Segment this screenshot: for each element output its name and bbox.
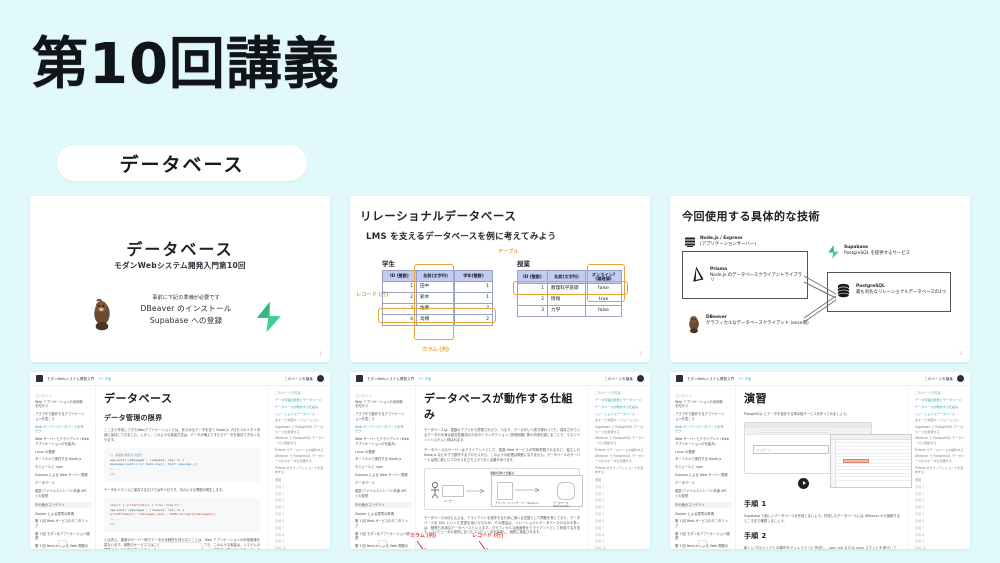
supabase-label: Supabase PostgreSQL を提供するサービス	[844, 245, 954, 256]
cell: 2	[455, 304, 493, 315]
topic-badge: データベース	[57, 145, 307, 181]
toc-item[interactable]: データベースが動作する仕組み	[915, 405, 965, 409]
site-logo-icon	[356, 375, 363, 382]
edit-page-link[interactable]: このページを編集	[924, 376, 953, 381]
annotation-arrow-icon	[478, 541, 492, 549]
sidebar-subitem[interactable]: Linux の基礎	[35, 450, 90, 454]
cell: 1	[455, 282, 493, 293]
site-logo-badge: ベータ版	[738, 376, 751, 381]
doc2-h1: データベースが動作する仕組み	[424, 390, 580, 422]
arrow-right-icon	[515, 487, 543, 493]
sidebar-subitem[interactable]: データベース	[35, 481, 90, 485]
nav-heading: コンテンツ	[355, 393, 410, 398]
slide-row: データベース モダンWebシステム開発入門第10回 事前に下記の準備が必要です	[30, 196, 970, 362]
chevron-right-icon: ›	[409, 400, 410, 409]
sidebar-heading-2-label: その他のコンテンツ	[35, 503, 65, 507]
slide3-page-number: 3	[959, 352, 962, 357]
supabase-name: Supabase	[844, 245, 868, 250]
doc1-p1: ここまで作成してきたWebアプリケーションでは、あらゆるデータを全て Node.…	[104, 428, 260, 443]
node-express-label: Node.js / Express (アプリケーションサーバー)	[700, 236, 810, 247]
class-col-online: オンライン? (論理値)	[586, 271, 622, 284]
sidebar-item-label: Web サーバー・データベースを作ろう	[355, 425, 404, 434]
sidebar-item-label: 第 1 回 Web サービスのモニタリング	[355, 519, 410, 528]
annotation-column: カラム (列)	[422, 346, 449, 353]
slide1-title: データベース	[30, 236, 330, 260]
dbeaver-label: DBeaver グラフィカルなデータベースクライアント (once周)	[706, 315, 816, 326]
toc-step[interactable]: 手順 1	[275, 485, 325, 489]
toc-step[interactable]: 手順 8	[915, 533, 965, 537]
sidebar-collapse-button[interactable]	[698, 540, 707, 546]
app-server-node	[497, 482, 513, 500]
doc-topbar: モダンWebシステム開発入門 ベータ版 このページを編集	[350, 372, 650, 386]
table-row: 3 佐藤 2	[383, 304, 493, 315]
toc-step[interactable]: 手順 10	[595, 546, 645, 549]
toc-heading: このページの内容	[275, 390, 325, 395]
theme-toggle-icon[interactable]	[637, 375, 644, 382]
slide1-note-block: 事前に下記の準備が必要です DBeaver のインストール Supabase へ…	[126, 296, 246, 325]
sidebar-subitem[interactable]: ターミナルで操作する Node.js	[675, 457, 730, 461]
toc-subitem[interactable]: 主キーと外部キー・リレーション	[595, 418, 645, 422]
nav-heading: コンテンツ	[35, 393, 90, 398]
scroll-indicator	[158, 542, 202, 549]
sidebar-item[interactable]: ブラウザで動作するアプリケーションを書こう ›	[35, 412, 90, 421]
slide1-note: 事前に下記の準備が必要です	[126, 296, 246, 302]
video-embed[interactable]: メッセージ 送信	[744, 422, 900, 492]
site-logo-text: モダンWebシステム開発入門	[687, 376, 734, 381]
doc-content: データベースが動作する仕組み データベースは、複数のアプリから参照されたり、つま…	[416, 372, 588, 549]
doc-topbar-right: このページを編集	[604, 375, 644, 382]
doc-row: モダンWebシステム開発入門 ベータ版 このページを編集 コンテンツ Web ア…	[30, 372, 970, 549]
doc3-p2: Supabase で新しいデータベースを作成しましょう。作成したデータベースには…	[744, 514, 900, 524]
sidebar-subitem-label: モジュールと npm	[675, 465, 703, 469]
supabase-logo	[826, 244, 841, 260]
sidebar-item-selected[interactable]: Web サーバー・データベースを作ろう ⌄	[35, 425, 90, 434]
chevron-right-icon: ›	[409, 412, 410, 421]
cell: false	[586, 284, 622, 295]
cell: 3	[518, 306, 548, 317]
cell: 2	[383, 293, 417, 304]
site-logo-icon	[36, 375, 43, 382]
toc-subitem[interactable]: DBeaver で PostgreSQL データベースのスキーマを定義する	[275, 454, 325, 463]
student-table: ID (整数) 名前(文字列) 学年(整数) 1 田中 1 2	[382, 270, 493, 326]
sidebar-subitem-label: Express による Web サーバー開発	[355, 473, 408, 477]
doc3-p3: 新しいプロジェクトの雛形をディレクトリに作成し、npm init または npm…	[744, 546, 900, 549]
annotation-column-label: カラム (列)	[410, 532, 436, 539]
toc-subitem[interactable]: Prisma のクライアントコードを生成する	[915, 466, 965, 475]
doc-content: データベース データ管理の限界 ここまで作成してきたWebアプリケーションでは、…	[96, 372, 268, 549]
postgres-name: PostgreSQL	[856, 284, 885, 289]
sidebar-heading-2: その他のコンテンツ	[33, 502, 92, 508]
toc-subitem[interactable]: 主キーと外部キー・リレーション	[915, 418, 965, 422]
annotation-arrow-icon	[416, 541, 430, 549]
student-table-caption: 学生	[382, 258, 493, 268]
sidebar-item-selected[interactable]: Web サーバー・データベースを作ろう ⌄	[355, 425, 410, 434]
sidebar-subitem[interactable]: Linux の基礎	[355, 450, 410, 454]
toc-step[interactable]: 手順 7	[915, 526, 965, 530]
sidebar-heading-2-label: その他のコンテンツ	[355, 503, 385, 507]
table-row: 1 田中 1	[383, 282, 493, 293]
toc-subitem[interactable]: Prisma でデータベースを操作する	[915, 448, 965, 452]
topic-badge-label: データベース	[119, 150, 244, 177]
sidebar-subitem[interactable]: ターミナルで操作する Node.js	[35, 457, 90, 461]
supabase-logo	[252, 300, 286, 334]
sidebar-subitem[interactable]: データベース	[355, 481, 410, 485]
connection-arrows	[802, 268, 842, 328]
toc-item[interactable]: データベースが動作する仕組み	[595, 405, 645, 409]
toc-step[interactable]: 手順 5	[275, 512, 325, 516]
sidebar-item-label: Docker による環境の再現	[355, 512, 394, 516]
sidebar-subitem[interactable]: 認証・ファイルストレージ・外部 API との連携	[355, 489, 410, 498]
table-row: 1 数理科学基礎 false	[518, 284, 622, 295]
toc-subitem[interactable]: Prisma のクライアントコードを生成する	[275, 466, 325, 475]
theme-toggle-icon[interactable]	[957, 375, 964, 382]
slide-thumbnail-2[interactable]: リレーショナルデータベース LMS を支えるデータベースを例に考えてみよう テー…	[350, 196, 650, 362]
cell: 情報	[548, 295, 586, 306]
doc-sidebar[interactable]: コンテンツ Web アプリケーションの全体像を知ろう › ブラウザで動作するアプ…	[30, 372, 96, 549]
sidebar-subitem[interactable]: 認証・ファイルストレージ・外部 API との連携	[35, 489, 90, 498]
cell: 1	[383, 282, 417, 293]
code-line: });	[110, 522, 254, 527]
class-col-id: ID (整数)	[518, 271, 548, 284]
toc-subitem[interactable]: 主キーと外部キー・リレーション	[275, 418, 325, 422]
sidebar-item-label: Web アプリケーションの全体像を知ろう	[35, 400, 86, 409]
sidebar-item-label: Web アプリケーションの全体像を知ろう	[355, 400, 406, 409]
sidebar-item-other[interactable]: Docker による環境の再現	[35, 512, 90, 516]
toc-subitem[interactable]: Supabase で PostgreSQL データベースを用意する	[595, 425, 645, 434]
chevron-right-icon: ›	[89, 400, 90, 409]
toc-step[interactable]: 手順 1	[915, 485, 965, 489]
cell: 2	[455, 315, 493, 326]
sidebar-item-label: 第 1 回 Web サービスのモニタリング	[675, 519, 730, 528]
toc-step[interactable]: 手順 4	[595, 505, 645, 509]
sidebar-subitem[interactable]: Linux の基礎	[675, 450, 730, 454]
doc-topbar-right: このページを編集	[924, 375, 964, 382]
doc-sidebar[interactable]: コンテンツ Web アプリケーションの全体像を知ろう › ブラウザで動作するアプ…	[350, 372, 416, 549]
cell: 鈴木	[417, 293, 455, 304]
toc-subitem[interactable]: DBeaver で PostgreSQL データベースに接続する	[915, 436, 965, 445]
class-table: ID (整数) 名前(文字列) オンライン? (論理値) 1 数理科学基礎 fa…	[517, 270, 622, 317]
sidebar-heading-2: その他のコンテンツ	[353, 502, 412, 508]
cell: 2	[518, 295, 548, 306]
sidebar-heading-2: その他のコンテンツ	[673, 502, 732, 508]
cell: false	[586, 306, 622, 317]
sidebar-item-label: ブラウザで動作するアプリケーションを書こう	[35, 412, 86, 421]
toc-step[interactable]: 手順 9	[595, 539, 645, 543]
user-icon	[429, 481, 441, 499]
cell: 力学	[548, 306, 586, 317]
slide3-title: 今回使用する具体的な技術	[682, 208, 958, 224]
slide2-subtitle: LMS を支えるデータベースを例に考えてみよう	[366, 230, 640, 242]
beaver-icon	[88, 298, 116, 332]
toc-step[interactable]: 手順 4	[915, 505, 965, 509]
doc3-h2-1: 手順 1	[744, 499, 900, 509]
toc-step[interactable]: 手順 3	[595, 498, 645, 502]
slide1-item-2: Supabase への登録	[126, 317, 246, 326]
cell: 4	[383, 315, 417, 326]
cell: 田中	[417, 282, 455, 293]
server-icon	[684, 236, 696, 248]
sidebar-item[interactable]: Web アプリケーションの全体像を知ろう ›	[35, 400, 90, 409]
chevron-down-icon: ⌄	[407, 425, 410, 434]
annotation-table: テーブル	[498, 248, 518, 255]
prisma-label: Prisma Node.js のデータベースクライアントライブラリ	[710, 267, 802, 284]
toc-item[interactable]: リレーショナルデータベース	[275, 412, 325, 416]
doc1-code-block-1: // 投稿を保存する配列 app.post('/messages', (requ…	[104, 448, 260, 482]
toc-heading-2: 演習	[915, 477, 965, 482]
sidebar-item[interactable]: Web アプリケーションの全体像を知ろう ›	[675, 400, 730, 409]
doc1-h2: データ管理の限界	[104, 413, 260, 423]
doc-toc: このページの内容 データ管理の限界とデータベース データベースが動作する仕組み …	[908, 372, 970, 549]
chevron-right-icon: ›	[729, 400, 730, 409]
sidebar-item-label: 第 1 回 Web サービスのモニタリング	[35, 519, 90, 528]
toc-subitem[interactable]: DBeaver で PostgreSQL データベースのスキーマを定義する	[595, 454, 645, 463]
cell: 高橋	[417, 315, 455, 326]
sidebar-subitem[interactable]: モジュールと npm	[35, 465, 90, 469]
doc-toc: このページの内容 データ管理の限界とデータベース データベースが動作する仕組み …	[588, 372, 650, 549]
sidebar-item-label: Docker による環境の再現	[675, 512, 714, 516]
doc1-code-block-2: import { writeFileSync } from 'node:fs';…	[104, 498, 260, 532]
supabase-desc: PostgreSQL を提供するサービス	[844, 251, 910, 256]
thumbnail-grid: データベース モダンWebシステム開発入門第10回 事前に下記の準備が必要です	[30, 196, 970, 549]
site-logo-text: モダンWebシステム開発入門	[47, 376, 94, 381]
student-col-year: 学年(整数)	[455, 271, 493, 282]
toc-step[interactable]: 手順 7	[595, 526, 645, 530]
slide-thumbnail-1[interactable]: データベース モダンWebシステム開発入門第10回 事前に下記の準備が必要です	[30, 196, 330, 362]
nav-heading: コンテンツ	[675, 393, 730, 398]
doc1-p2: データをメモリ上に保存するだけでは不十分です。次のような問題が発生します。	[104, 488, 260, 493]
class-table-caption: 授業	[517, 258, 622, 268]
sidebar-subitem-label: Web サーバーとクライアント (Webアプリケーションの仕組み)	[675, 437, 730, 446]
toc-subitem[interactable]: Supabase で PostgreSQL データベースを用意する	[275, 425, 325, 434]
sidebar-subitem-label: 認証・ファイルストレージ・外部 API との連携	[35, 489, 90, 498]
sidebar-item-label: Web サーバー・データベースを作ろう	[675, 425, 724, 434]
toc-subitem[interactable]: Supabase で PostgreSQL データベースを用意する	[915, 425, 965, 434]
cell: 佐藤	[417, 304, 455, 315]
toc-step[interactable]: 手順 4	[275, 505, 325, 509]
postgres-desc: 最も有名なリレーショナルデータベースの1つ	[856, 290, 946, 295]
chevron-down-icon: ⌄	[727, 425, 730, 434]
browser-url-field	[759, 430, 829, 434]
sidebar-item-selected[interactable]: Web サーバー・データベースを作ろう ⌄	[675, 425, 730, 434]
sidebar-item-other[interactable]: 第 1 回 Web サービスのモニタリング	[35, 519, 90, 528]
cell: true	[586, 295, 622, 306]
sidebar-subitem-label: ターミナルで操作する Node.js	[355, 457, 401, 461]
doc-sidebar[interactable]: コンテンツ Web アプリケーションの全体像を知ろう › ブラウザで動作するアプ…	[670, 372, 736, 549]
toc-step[interactable]: 手順 2	[275, 492, 325, 496]
sidebar-item[interactable]: Web アプリケーションの全体像を知ろう ›	[355, 400, 410, 409]
toc-step[interactable]: 手順 1	[595, 485, 645, 489]
sidebar-subitem-label: Linux の基礎	[35, 450, 55, 454]
message-input: メッセージ	[753, 445, 829, 454]
toc-item[interactable]: リレーショナルデータベース	[915, 412, 965, 416]
doc2-p1: データベースは、複数のアプリから参照されたり、つまり、データがいつ書き換わっても…	[424, 428, 580, 443]
postgres-label: PostgreSQL 最も有名なリレーショナルデータベースの1つ	[856, 284, 948, 295]
sidebar-subitem[interactable]: 認証・ファイルストレージ・外部 API との連携	[675, 489, 730, 498]
chevron-right-icon: ›	[729, 412, 730, 421]
doc-topbar-right: このページを編集	[284, 375, 324, 382]
student-col-name: 名前(文字列)	[417, 271, 455, 282]
dbeaver-desc: グラフィカルなデータベースクライアント (once周)	[706, 321, 809, 326]
slide2-title: リレーショナルデータベース	[360, 208, 640, 224]
toc-step[interactable]: 手順 8	[275, 533, 325, 537]
slide1-item-1: DBeaver のインストール	[126, 305, 246, 314]
toc-step[interactable]: 手順 5	[915, 512, 965, 516]
sidebar-subitem-label: Linux の基礎	[675, 450, 695, 454]
sidebar-subitem[interactable]: Web サーバーとクライアント (Webアプリケーションの仕組み)	[35, 437, 90, 446]
slide1-subtitle: モダンWebシステム開発入門第10回	[30, 260, 330, 271]
sidebar-subitem[interactable]: データベース	[675, 481, 730, 485]
cell: 1	[455, 293, 493, 304]
sidebar-subitem-label: データベース	[355, 481, 375, 485]
toc-step[interactable]: 手順 9	[915, 539, 965, 543]
class-col-name: 名前(文字列)	[548, 271, 586, 284]
toc-step[interactable]: 手順 2	[915, 492, 965, 496]
doc1-h1: データベース	[104, 390, 260, 406]
beaver-icon	[686, 314, 702, 334]
toc-heading: このページの内容	[595, 390, 645, 395]
toc-item[interactable]: データ管理の限界とデータベース	[595, 398, 645, 402]
sidebar-subitem-label: モジュールと npm	[355, 465, 383, 469]
slide2-page-number: 2	[639, 352, 642, 357]
toc-item[interactable]: リレーショナルデータベース	[595, 412, 645, 416]
diagram-label-app: アプリケーションサーバー (Node.js)	[495, 501, 539, 505]
database-node	[557, 482, 575, 500]
db-client-sidebar	[831, 440, 836, 487]
toc-step[interactable]: 手順 2	[595, 492, 645, 496]
sidebar-item-label: ブラウザで動作するアプリケーションを書こう	[675, 412, 726, 421]
toc-item[interactable]: データ管理の限界とデータベース	[915, 398, 965, 402]
site-logo-icon	[676, 375, 683, 382]
toc-subitem[interactable]: Prisma でデータベースを操作する	[595, 448, 645, 452]
table-row: 2 情報 true	[518, 295, 622, 306]
sidebar-subitem-label: モジュールと npm	[35, 465, 63, 469]
sidebar-item-other[interactable]: Docker による環境の再現	[355, 512, 410, 516]
student-table-wrap: 学生 ID (整数) 名前(文字列) 学年(整数) 1 田中 1	[382, 258, 493, 326]
toc-step[interactable]: 手順 7	[275, 526, 325, 530]
sidebar-subitem[interactable]: Express による Web サーバー開発	[355, 473, 410, 477]
sidebar-item-label: Docker による環境の再現	[35, 512, 74, 516]
code-line: });	[110, 472, 254, 477]
sidebar-item-label: ブラウザで動作するアプリケーションを書こう	[355, 412, 406, 421]
sidebar-subitem-label: 認証・ファイルストレージ・外部 API との連携	[675, 489, 730, 498]
student-col-id: ID (整数)	[383, 271, 417, 282]
annotation-record-label: レコード (行)	[472, 532, 503, 539]
db-client-screenshot	[830, 434, 912, 488]
sidebar-item-other[interactable]: Docker による環境の再現	[675, 512, 730, 516]
doc3-p1: PostgreSQL にデータを保存する掲示板サービスを作ってみましょう。	[744, 412, 900, 417]
sidebar-subitem[interactable]: Web サーバーとクライアント (Webアプリケーションの仕組み)	[355, 437, 410, 446]
toc-item[interactable]: データ管理の限界とデータベース	[275, 398, 325, 402]
dbeaver-name: DBeaver	[706, 315, 727, 320]
toc-step[interactable]: 手順 9	[275, 539, 325, 543]
table-row: 2 鈴木 1	[383, 293, 493, 304]
sidebar-subitem[interactable]: ターミナルで操作する Node.js	[355, 457, 410, 461]
highlighted-row	[843, 459, 869, 464]
doc-topbar: モダンWebシステム開発入門 ベータ版 このページを編集	[670, 372, 970, 386]
toc-subitem[interactable]: DBeaver で PostgreSQL データベースに接続する	[275, 436, 325, 445]
arrow-right-icon	[466, 488, 488, 494]
table-header-row: ID (整数) 名前(文字列) オンライン? (論理値)	[518, 271, 622, 284]
doc-thumbnail-1[interactable]: モダンWebシステム開発入門 ベータ版 このページを編集 コンテンツ Web ア…	[30, 372, 330, 549]
sidebar-subitem[interactable]: Web サーバーとクライアント (Webアプリケーションの仕組み)	[675, 437, 730, 446]
sidebar-subitem[interactable]: Express による Web サーバー開発	[675, 473, 730, 477]
architecture-diagram: 接続の流れと仕組み ユーザー ア	[424, 468, 580, 510]
toc-subitem[interactable]: DBeaver で PostgreSQL データベースに接続する	[595, 436, 645, 445]
sidebar-subitem-label: データベース	[35, 481, 55, 485]
site-logo-badge: ベータ版	[98, 376, 111, 381]
presentation-overview-page: 第10回講義 データベース データベース モダンWebシステム開発入門第10回	[0, 0, 1000, 563]
doc-thumbnail-2[interactable]: モダンWebシステム開発入門 ベータ版 このページを編集 コンテンツ Web ア…	[350, 372, 650, 549]
slide-thumbnail-3[interactable]: 今回使用する具体的な技術 Node.js / Express (アプリケーション…	[670, 196, 970, 362]
chevron-right-icon: ›	[89, 412, 90, 421]
sidebar-subitem-label: Express による Web サーバー開発	[675, 473, 728, 477]
sidebar-subitem[interactable]: モジュールと npm	[355, 465, 410, 469]
diagram-label-db: データベース (PostgreSQL)	[553, 501, 579, 508]
table-row: 3 力学 false	[518, 306, 622, 317]
page-title: 第10回講義	[32, 36, 340, 95]
toc-item[interactable]: データベースが動作する仕組み	[275, 405, 325, 409]
edit-page-link[interactable]: このページを編集	[284, 376, 313, 381]
prisma-name: Prisma	[710, 267, 727, 272]
sidebar-subitem[interactable]: モジュールと npm	[675, 465, 730, 469]
doc-topbar: モダンWebシステム開発入門 ベータ版 このページを編集	[30, 372, 330, 386]
toc-step[interactable]: 手順 8	[595, 533, 645, 537]
theme-toggle-icon[interactable]	[317, 375, 324, 382]
toc-heading-2: 演習	[275, 477, 325, 482]
sidebar-subitem-label: Web サーバーとクライアント (Webアプリケーションの仕組み)	[35, 437, 90, 446]
toc-step[interactable]: 手順 6	[915, 519, 965, 523]
site-logo-badge: ベータ版	[418, 376, 431, 381]
sidebar-collapse-button[interactable]	[378, 540, 387, 546]
sidebar-subitem-label: Linux の基礎	[355, 450, 375, 454]
diagram-label-user: ユーザー	[444, 499, 454, 503]
sidebar-collapse-button[interactable]	[58, 540, 67, 546]
toc-step[interactable]: 手順 5	[595, 512, 645, 516]
sidebar-item-other[interactable]: 第 1 回 Web サービスのモニタリング	[355, 519, 410, 528]
toc-step[interactable]: 手順 6	[595, 519, 645, 523]
toc-step[interactable]: 手順 10	[275, 546, 325, 549]
toc-step[interactable]: 手順 10	[915, 546, 965, 549]
table-row: 4 高橋 2	[383, 315, 493, 326]
sidebar-item-other[interactable]: 第 1 回 Web サービスのモニタリング	[675, 519, 730, 528]
toc-step[interactable]: 手順 6	[275, 519, 325, 523]
node-express-name: Node.js / Express	[700, 236, 743, 241]
toc-step[interactable]: 手順 3	[275, 498, 325, 502]
prisma-logo	[690, 266, 705, 283]
play-icon[interactable]	[798, 478, 809, 489]
toc-subitem[interactable]: Prisma のクライアントコードを生成する	[595, 466, 645, 475]
sidebar-item[interactable]: ブラウザで動作するアプリケーションを書こう ›	[675, 412, 730, 421]
slide1-page-number: 1	[319, 352, 322, 357]
table-header-row: ID (整数) 名前(文字列) 学年(整数)	[383, 271, 493, 282]
sidebar-subitem-label: ターミナルで操作する Node.js	[35, 457, 81, 461]
cell: 3	[383, 304, 417, 315]
sidebar-subitem[interactable]: Express による Web サーバー開発	[35, 473, 90, 477]
laptop-box	[442, 485, 464, 497]
doc3-h1: 演習	[744, 390, 900, 406]
sidebar-subitem-label: 認証・ファイルストレージ・外部 API との連携	[355, 489, 410, 498]
node-express-desc: (アプリケーションサーバー)	[700, 242, 756, 247]
toc-subitem[interactable]: Prisma でデータベースを操作する	[275, 448, 325, 452]
cell: 数理科学基礎	[548, 284, 586, 295]
toc-subitem[interactable]: DBeaver で PostgreSQL データベースのスキーマを定義する	[915, 454, 965, 463]
chevron-down-icon: ⌄	[87, 425, 90, 434]
edit-page-link[interactable]: このページを編集	[604, 376, 633, 381]
toc-step[interactable]: 手順 3	[915, 498, 965, 502]
sidebar-item[interactable]: ブラウザで動作するアプリケーションを書こう ›	[355, 412, 410, 421]
doc-thumbnail-3[interactable]: モダンWebシステム開発入門 ベータ版 このページを編集 コンテンツ Web ア…	[670, 372, 970, 549]
message-input-placeholder: メッセージ	[754, 446, 828, 455]
